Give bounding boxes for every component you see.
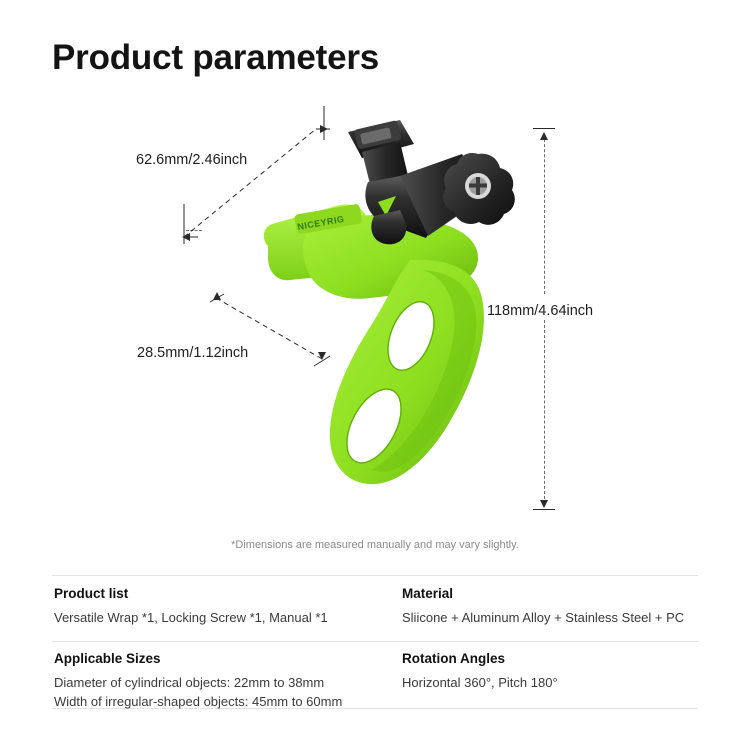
height-line-upper: [544, 134, 545, 294]
height-tick-top: [533, 128, 555, 129]
width-tick-left: [178, 200, 198, 248]
spec-rotation-angles: Rotation Angles Horizontal 360°, Pitch 1…: [402, 651, 558, 692]
metal-mount: [348, 120, 515, 244]
width-tick-right: [314, 104, 334, 146]
spec-applicable-sizes: Applicable Sizes Diameter of cylindrical…: [54, 651, 342, 711]
page-title: Product parameters: [52, 38, 379, 78]
spec-divider-1: [52, 575, 698, 576]
spec-applicable-sizes-line-2: Width of irregular-shaped objects: 45mm …: [54, 692, 342, 711]
product-parameters-page: Product parameters: [0, 0, 750, 750]
spec-rotation-angles-line-1: Horizontal 360°, Pitch 180°: [402, 673, 558, 692]
spec-material-line-1: Sliicone + Aluminum Alloy + Stainless St…: [402, 608, 684, 627]
dimension-height-label: 118mm/4.64inch: [487, 303, 593, 319]
spec-applicable-sizes-heading: Applicable Sizes: [54, 651, 342, 666]
spec-divider-2: [52, 641, 698, 642]
spec-rotation-angles-heading: Rotation Angles: [402, 651, 558, 666]
spec-applicable-sizes-line-1: Diameter of cylindrical objects: 22mm to…: [54, 673, 342, 692]
depth-arrow-start: [213, 292, 221, 300]
spec-product-list: Product list Versatile Wrap *1, Locking …: [54, 586, 328, 627]
depth-arrow-end: [318, 352, 326, 360]
height-arrow-top: [540, 132, 548, 140]
height-tick-bottom: [533, 509, 555, 510]
height-line-lower: [544, 320, 545, 504]
spec-product-list-line-1: Versatile Wrap *1, Locking Screw *1, Man…: [54, 608, 328, 627]
spec-product-list-heading: Product list: [54, 586, 328, 601]
height-arrow-bottom: [540, 500, 548, 508]
measurement-footnote: *Dimensions are measured manually and ma…: [0, 539, 750, 551]
spec-material: Material Sliicone + Aluminum Alloy + Sta…: [402, 586, 684, 627]
spec-material-heading: Material: [402, 586, 684, 601]
